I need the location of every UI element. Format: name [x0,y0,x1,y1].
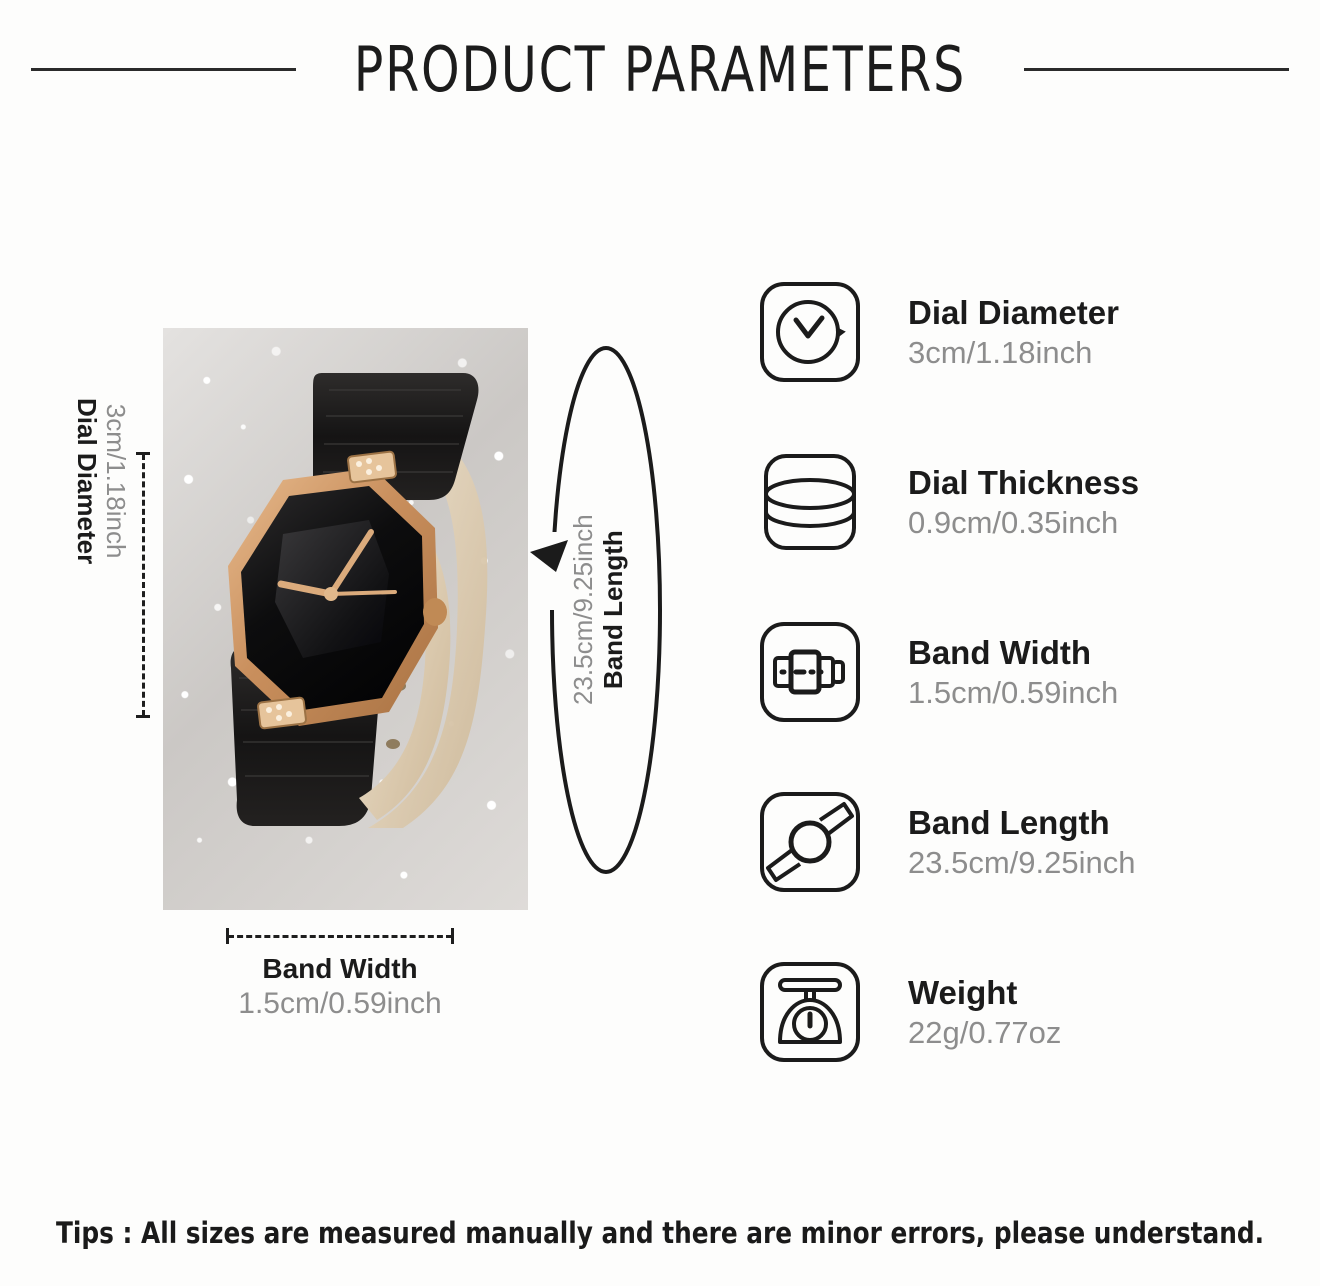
band-width-annotation-label: Band Width [160,952,520,986]
title-rule-right [1024,68,1289,71]
dial-diameter-annotation-label: Dial Diameter [72,398,101,564]
dial-diameter-measure-line [136,452,150,718]
product-photo [163,328,528,910]
spec-value-dial-thickness: 0.9cm/0.35inch [908,503,1139,543]
tips-text: Tips : All sizes are measured manually a… [33,1216,1287,1250]
band-length-loop-svg [528,336,668,884]
spec-list: Dial Diameter 3cm/1.18inch Dial Thicknes… [758,280,1278,1130]
spec-row-band-length: Band Length 23.5cm/9.25inch [758,790,1278,960]
spec-value-dial-diameter: 3cm/1.18inch [908,333,1119,373]
spec-label-dial-diameter: Dial Diameter [908,294,1119,333]
band-width-annotation-value: 1.5cm/0.59inch [160,986,520,1023]
spec-row-dial-thickness: Dial Thickness 0.9cm/0.35inch [758,450,1278,620]
dial-diameter-annotation: Dial Diameter 3cm/1.18inch [66,452,136,718]
spec-row-weight: Weight 22g/0.77oz [758,960,1278,1130]
disc-thickness-icon [758,450,862,554]
band-width-annotation: Band Width 1.5cm/0.59inch [160,952,520,1023]
band-length-loop [528,336,668,884]
spec-label-band-width: Band Width [908,634,1118,673]
watch-dial-icon [758,280,862,384]
kitchen-scale-icon [758,960,862,1064]
buckle-strap-icon [758,620,862,724]
spec-row-band-width: Band Width 1.5cm/0.59inch [758,620,1278,790]
spec-label-weight: Weight [908,974,1061,1013]
measure-dashed-line-horizontal [228,935,452,938]
measure-cap-right [451,928,454,944]
spec-label-band-length: Band Length [908,804,1135,843]
spec-row-dial-diameter: Dial Diameter 3cm/1.18inch [758,280,1278,450]
spec-value-band-length: 23.5cm/9.25inch [908,843,1135,883]
diagonal-watch-icon [758,790,862,894]
spec-label-dial-thickness: Dial Thickness [908,464,1139,503]
spec-value-weight: 22g/0.77oz [908,1013,1061,1053]
band-width-measure-line [226,928,454,944]
spec-value-band-width: 1.5cm/0.59inch [908,673,1118,713]
measure-cap-bottom [136,715,150,718]
title-rule-left [31,68,296,71]
dial-diameter-annotation-value: 3cm/1.18inch [101,404,130,559]
page-title: PRODUCT PARAMETERS [354,33,966,106]
watch-illustration [163,328,528,910]
page-title-row: PRODUCT PARAMETERS [0,34,1320,104]
measure-dashed-line [142,454,145,716]
